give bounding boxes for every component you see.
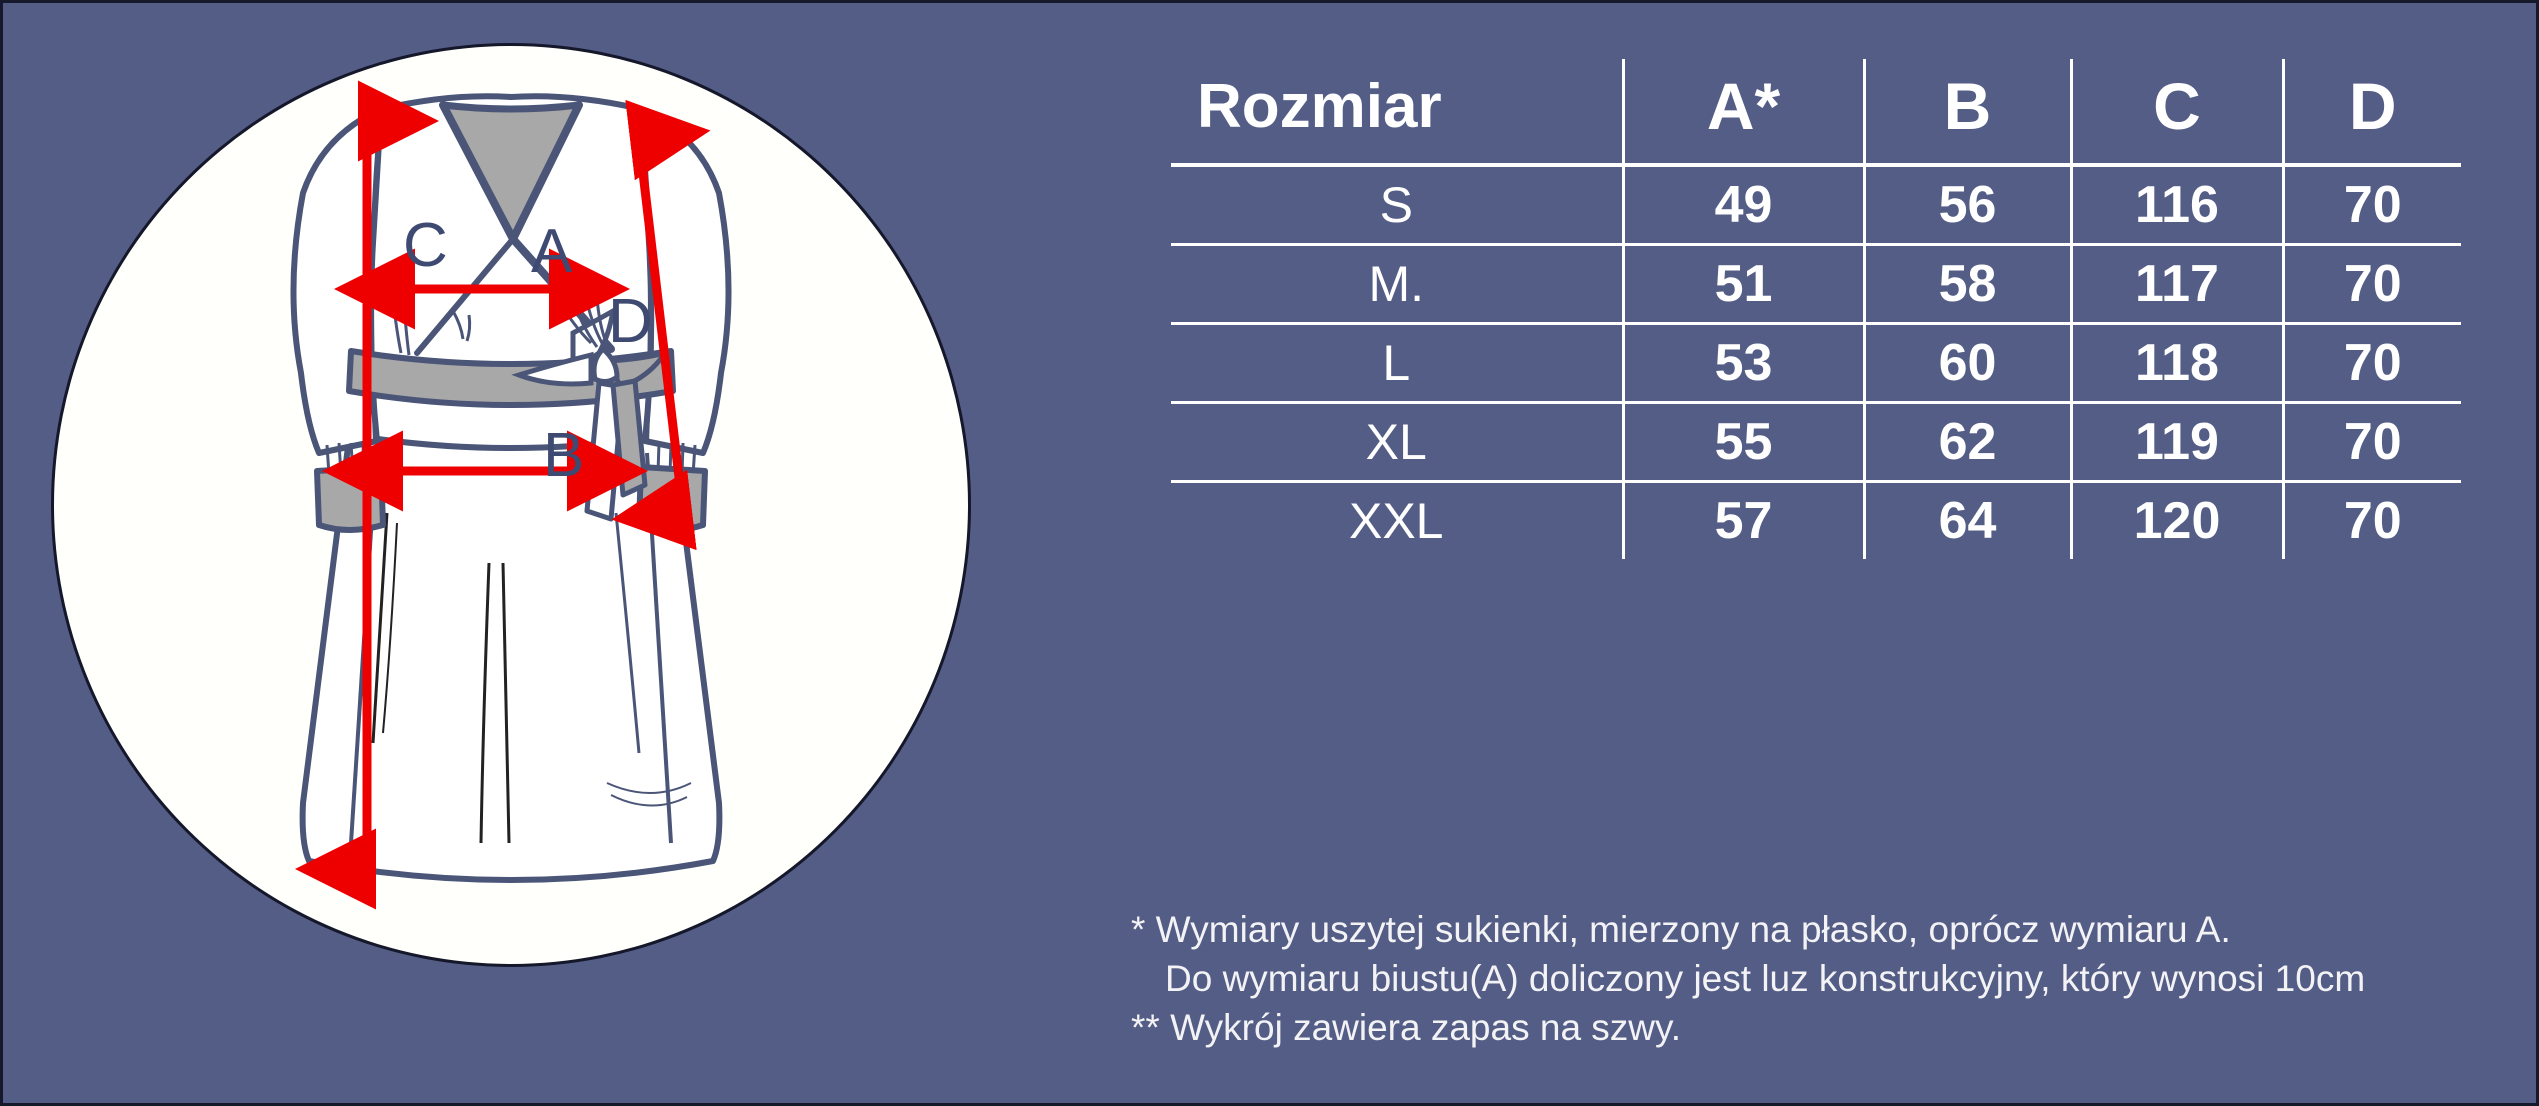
cell-d: 70 [2283, 165, 2461, 245]
footnote-line-2: Do wymiaru biustu(A) doliczony jest luz … [1131, 954, 2531, 1003]
dress-body-group [293, 96, 728, 880]
size-table: Rozmiar A* B C D S 49 56 116 70 M. 51 [1171, 59, 2461, 559]
table-row: S 49 56 116 70 [1171, 165, 2461, 245]
cell-c: 119 [2071, 403, 2283, 482]
dress-illustration: C A D B [51, 43, 971, 967]
cell-a: 51 [1623, 245, 1864, 324]
cell-b: 56 [1864, 165, 2071, 245]
cell-d: 70 [2283, 324, 2461, 403]
footnote-line-1: * Wymiary uszytej sukienki, mierzony na … [1131, 905, 2531, 954]
table-row: XXL 57 64 120 70 [1171, 482, 2461, 560]
table-row: L 53 60 118 70 [1171, 324, 2461, 403]
col-header-d: D [2283, 59, 2461, 165]
cell-size: XXL [1171, 482, 1623, 560]
col-header-b: B [1864, 59, 2071, 165]
cell-c: 118 [2071, 324, 2283, 403]
cell-b: 60 [1864, 324, 2071, 403]
cell-a: 55 [1623, 403, 1864, 482]
cell-b: 64 [1864, 482, 2071, 560]
size-chart-page: C A D B Rozmiar A* B C D S 49 [0, 0, 2539, 1106]
cell-size: M. [1171, 245, 1623, 324]
cell-a: 57 [1623, 482, 1864, 560]
size-table-wrap: Rozmiar A* B C D S 49 56 116 70 M. 51 [1171, 59, 2461, 559]
cell-size: XL [1171, 403, 1623, 482]
dress-technical-drawing-svg [51, 43, 971, 967]
cell-size: L [1171, 324, 1623, 403]
cell-c: 120 [2071, 482, 2283, 560]
cell-d: 70 [2283, 403, 2461, 482]
measure-label-c: C [403, 215, 448, 277]
cell-b: 58 [1864, 245, 2071, 324]
measure-label-a: A [531, 221, 572, 283]
col-header-c: C [2071, 59, 2283, 165]
cell-c: 117 [2071, 245, 2283, 324]
col-header-a: A* [1623, 59, 1864, 165]
table-row: M. 51 58 117 70 [1171, 245, 2461, 324]
table-row: XL 55 62 119 70 [1171, 403, 2461, 482]
footnote-line-3: ** Wykrój zawiera zapas na szwy. [1131, 1003, 2531, 1052]
col-header-size: Rozmiar [1171, 59, 1623, 165]
measure-label-b: B [543, 425, 584, 487]
cell-d: 70 [2283, 245, 2461, 324]
cell-c: 116 [2071, 165, 2283, 245]
cell-a: 49 [1623, 165, 1864, 245]
cell-size: S [1171, 165, 1623, 245]
cell-a: 53 [1623, 324, 1864, 403]
cell-b: 62 [1864, 403, 2071, 482]
footnotes: * Wymiary uszytej sukienki, mierzony na … [1131, 905, 2531, 1053]
cell-d: 70 [2283, 482, 2461, 560]
measure-label-d: D [608, 291, 653, 353]
table-header-row: Rozmiar A* B C D [1171, 59, 2461, 165]
